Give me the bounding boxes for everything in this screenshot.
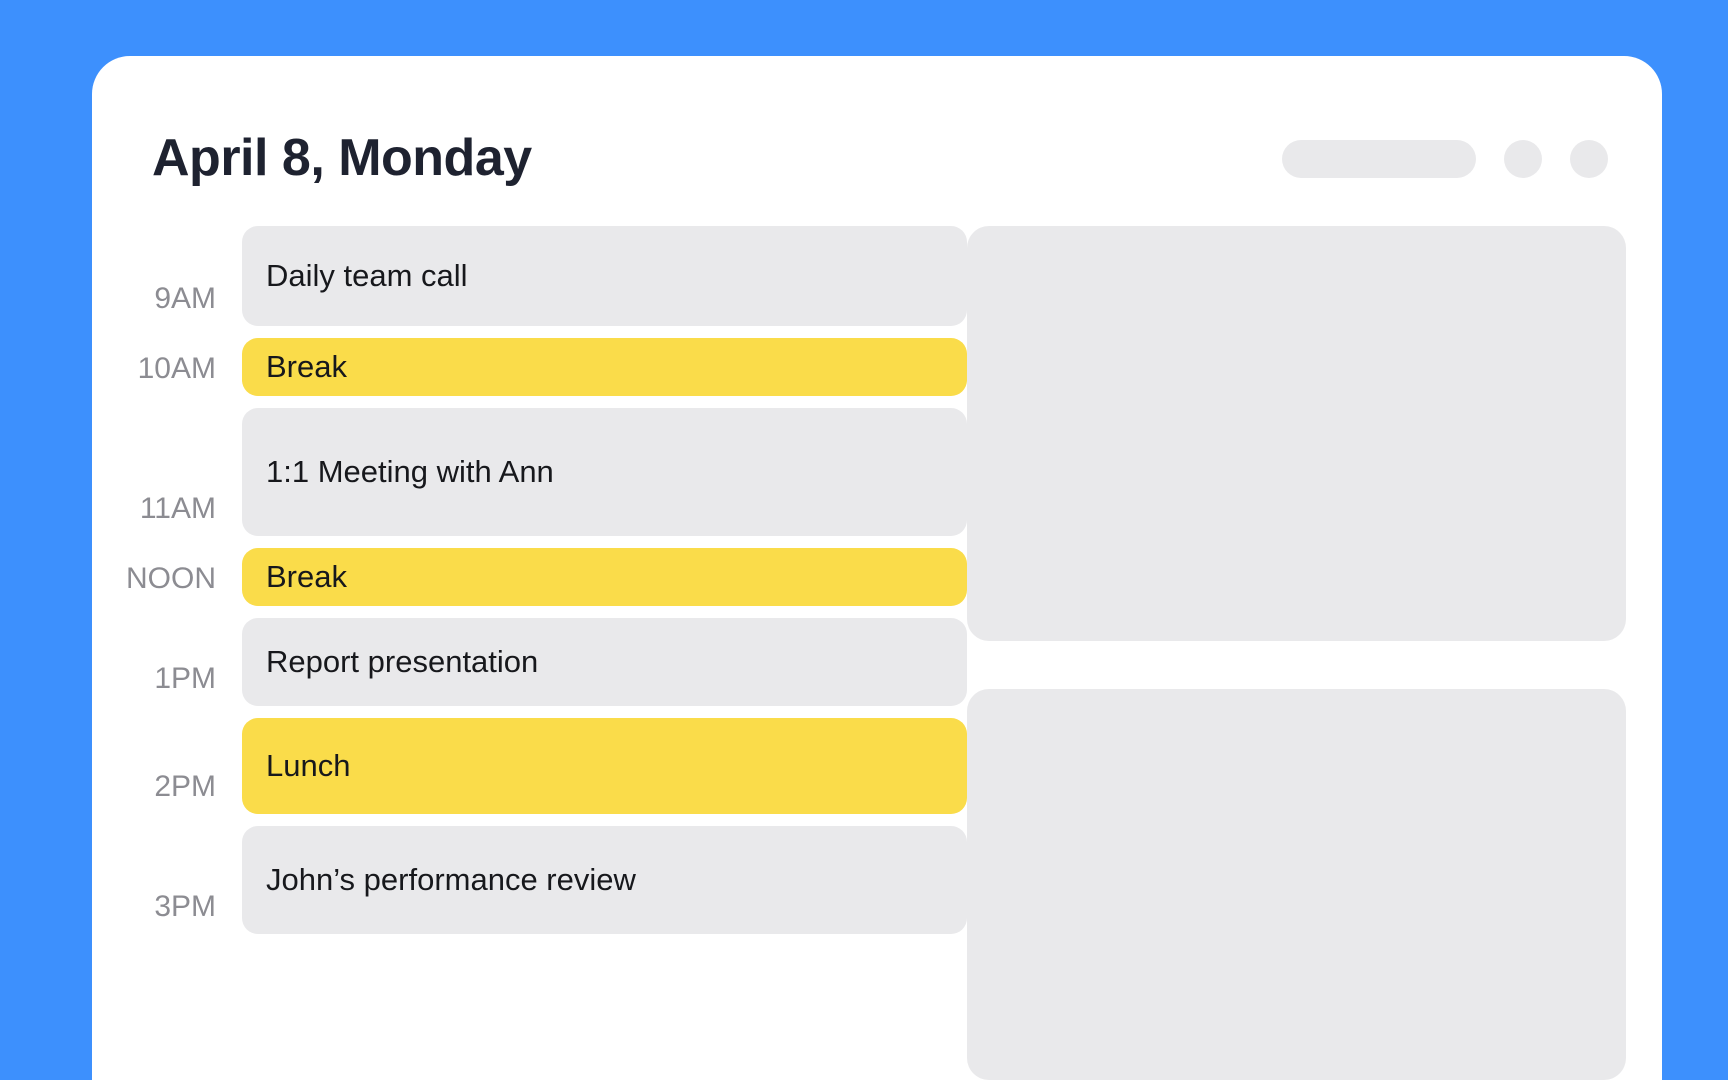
event-card[interactable]: Break: [242, 338, 967, 396]
header-controls: [1282, 140, 1608, 178]
main-body: 9AM Daily team call 10AM Break 11AM 1:1 …: [92, 226, 1662, 1080]
panel-bottom-placeholder[interactable]: [967, 689, 1626, 1080]
schedule-list: 9AM Daily team call 10AM Break 11AM 1:1 …: [92, 226, 967, 1080]
header-pill-placeholder[interactable]: [1282, 140, 1476, 178]
app-root: April 8, Monday 9AM Daily team call 10AM…: [0, 0, 1728, 1080]
header-dot-placeholder-1[interactable]: [1504, 140, 1542, 178]
time-label: 11AM: [92, 408, 242, 536]
header-bar: April 8, Monday: [92, 56, 1662, 226]
schedule-row: 10AM Break: [92, 338, 967, 396]
event-card[interactable]: John’s performance review: [242, 826, 967, 934]
time-label: 1PM: [92, 618, 242, 706]
panel-gap: [967, 641, 1626, 689]
event-card[interactable]: Daily team call: [242, 226, 967, 326]
header-dot-placeholder-2[interactable]: [1570, 140, 1608, 178]
event-card[interactable]: Report presentation: [242, 618, 967, 706]
event-card[interactable]: Lunch: [242, 718, 967, 814]
right-panel-column: [967, 226, 1662, 1080]
page-title: April 8, Monday: [152, 132, 532, 184]
time-label: NOON: [92, 548, 242, 606]
panel-top-placeholder[interactable]: [967, 226, 1626, 641]
event-card[interactable]: Break: [242, 548, 967, 606]
schedule-row: 2PM Lunch: [92, 718, 967, 814]
app-window: April 8, Monday 9AM Daily team call 10AM…: [92, 56, 1662, 1080]
time-label: 3PM: [92, 826, 242, 934]
schedule-row: 3PM John’s performance review: [92, 826, 967, 934]
time-label: 9AM: [92, 226, 242, 326]
schedule-row: 1PM Report presentation: [92, 618, 967, 706]
schedule-row: 9AM Daily team call: [92, 226, 967, 326]
time-label: 2PM: [92, 718, 242, 814]
event-card[interactable]: 1:1 Meeting with Ann: [242, 408, 967, 536]
schedule-row: NOON Break: [92, 548, 967, 606]
time-label: 10AM: [92, 338, 242, 396]
schedule-row: 11AM 1:1 Meeting with Ann: [92, 408, 967, 536]
